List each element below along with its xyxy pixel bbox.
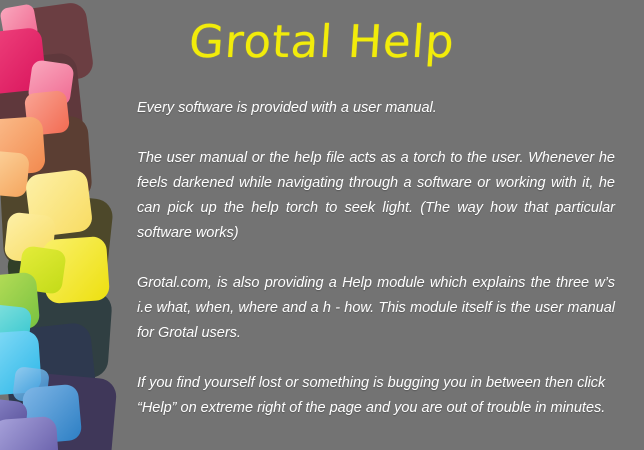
help-page: Grotal Help Every software is provided w… [0,0,644,450]
paragraph-help-module: Grotal.com, is also providing a Help mod… [137,271,615,346]
paragraph-intro: Every software is provided with a user m… [137,96,615,121]
help-body: Every software is provided with a user m… [137,96,615,450]
paragraph-torch-analogy: The user manual or the help file acts as… [137,146,615,246]
page-title: Grotal Help [0,14,644,70]
signoff-text: Happy Grotaling… [137,446,615,450]
paragraph-how-to-get-help: If you find yourself lost or something i… [137,371,615,421]
